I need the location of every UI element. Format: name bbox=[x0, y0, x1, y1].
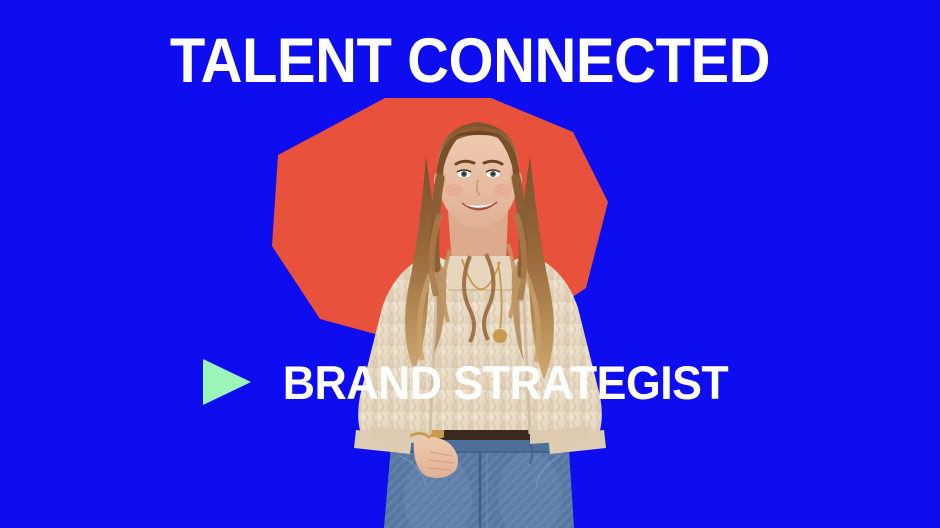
subject-jeans bbox=[384, 434, 574, 528]
page-title: TALENT CONNECTED bbox=[38, 30, 903, 93]
play-triangle-icon[interactable] bbox=[201, 357, 253, 407]
subject-photo bbox=[330, 104, 630, 528]
role-label: BRAND STRATEGIST bbox=[282, 359, 728, 406]
role-callout: BRAND STRATEGIST bbox=[0, 357, 940, 407]
poster-canvas: TALENT CONNECTED BRAND STRATEGIST bbox=[0, 0, 940, 528]
